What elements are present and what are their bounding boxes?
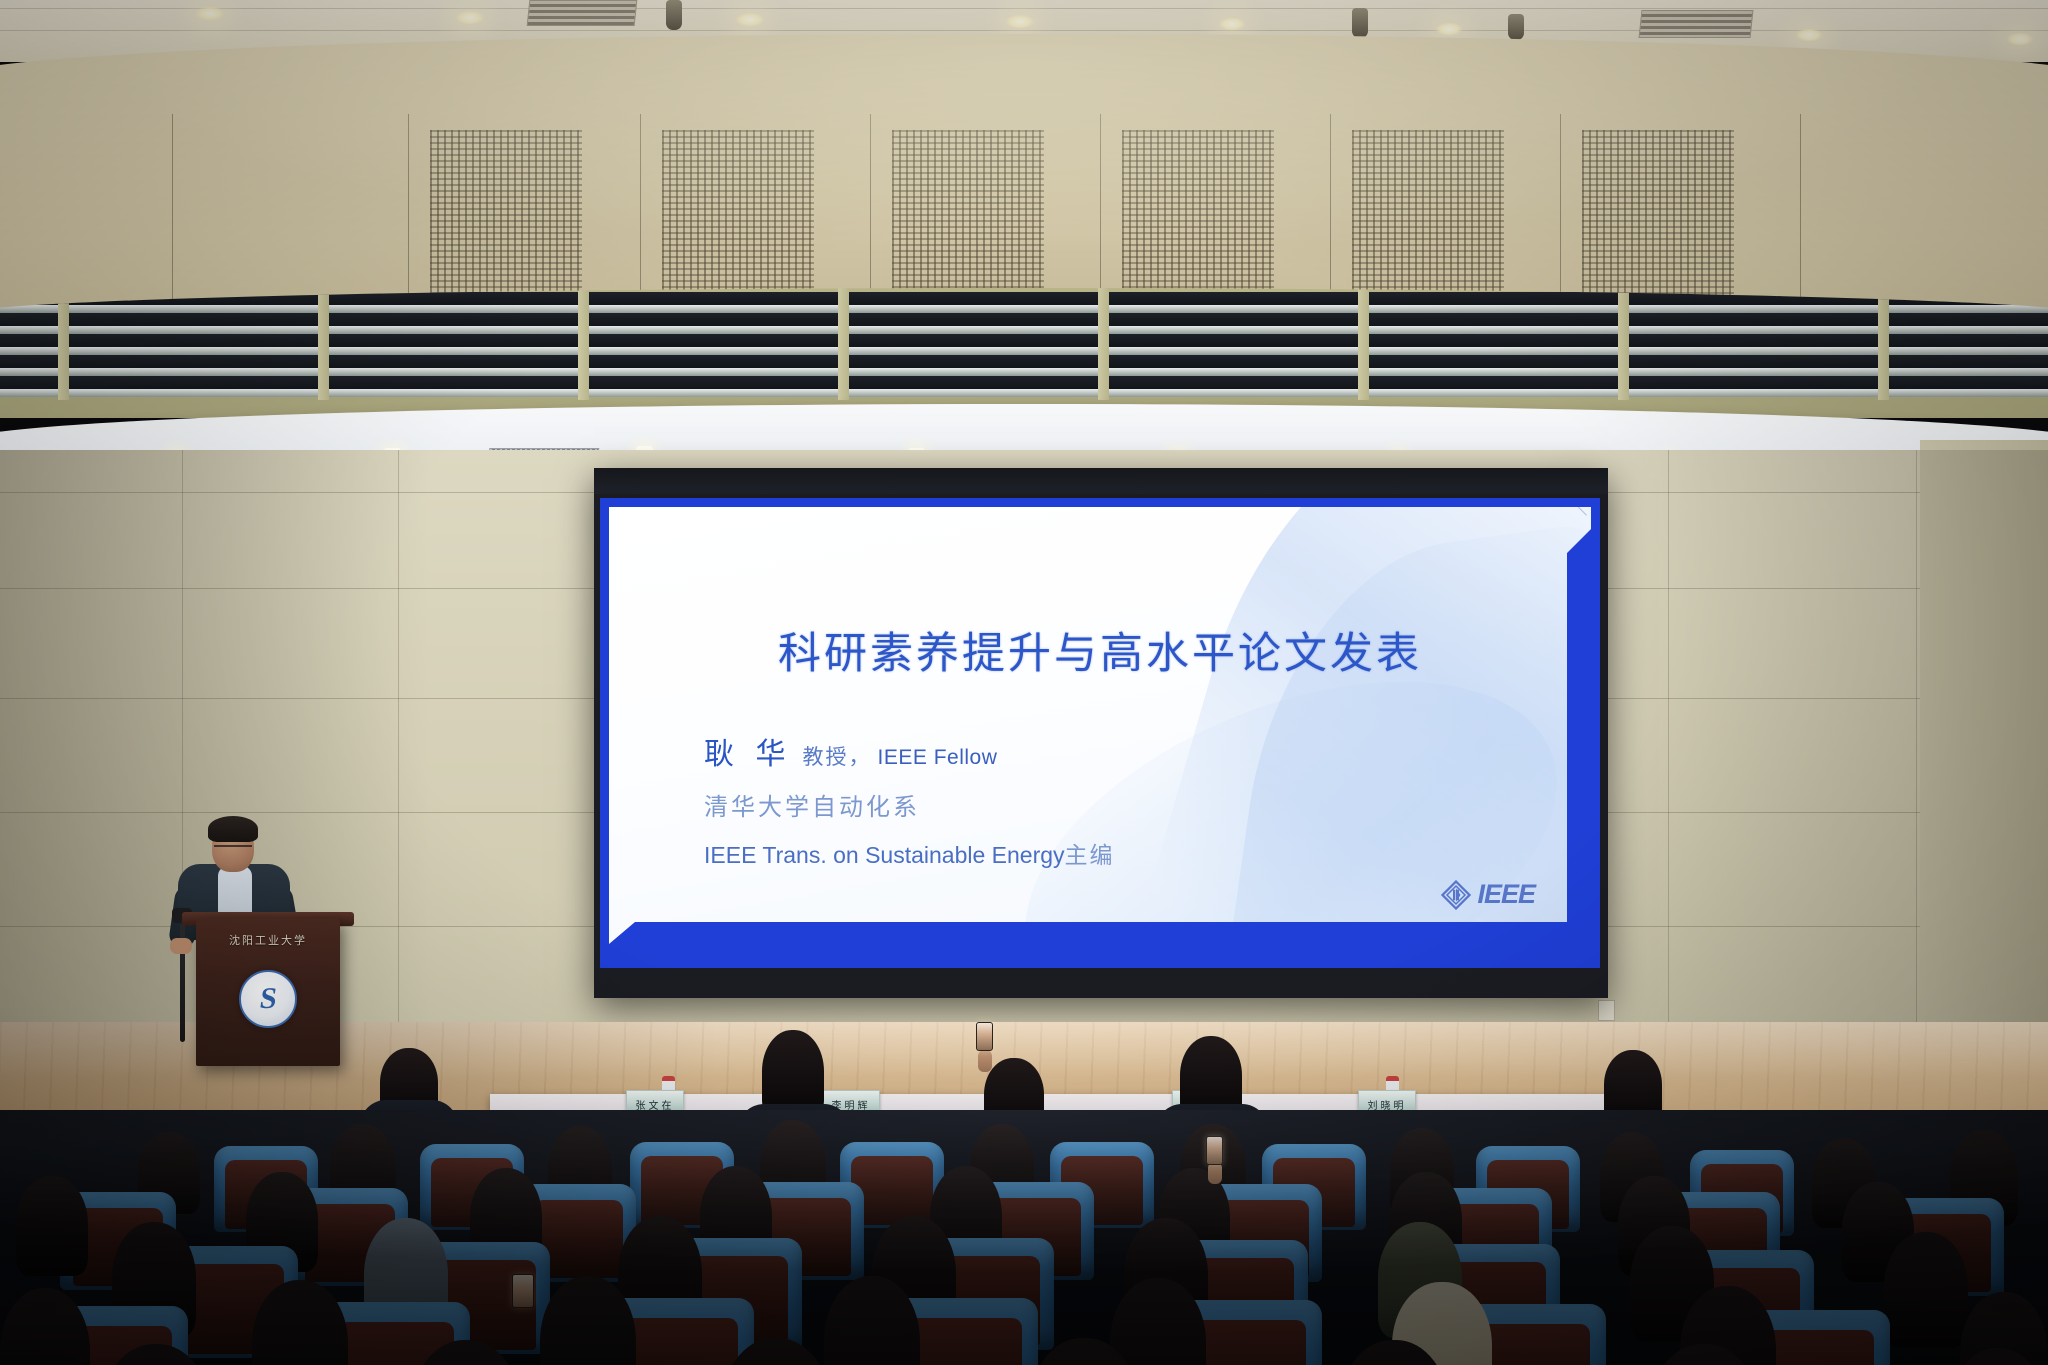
journal-name: IEEE Trans. on Sustainable Energy bbox=[704, 842, 1065, 868]
ieee-wordmark: IEEE bbox=[1477, 879, 1535, 910]
speaker-name: 耿 华 bbox=[704, 738, 793, 771]
speaker-affiliation: 清华大学自动化系 bbox=[704, 795, 920, 821]
slide-title: 科研素养提升与高水平论文发表 bbox=[609, 619, 1591, 681]
audience-member bbox=[16, 1176, 88, 1276]
slide-content-area: 科研素养提升与高水平论文发表 耿 华教授，IEEE Fellow 清华大学自动化… bbox=[609, 507, 1591, 946]
speaker-rank: 教授， bbox=[803, 745, 872, 769]
podium-university-text: 沈阳工业大学 bbox=[196, 932, 340, 948]
hvac-diffuser-icon bbox=[527, 0, 638, 26]
ieee-diamond-icon bbox=[1441, 880, 1471, 910]
recessed-ceiling-light-icon bbox=[195, 6, 225, 21]
speaker-fellow-badge: IEEE Fellow bbox=[878, 746, 998, 769]
journal-role-line: IEEE Trans. on Sustainable Energy主编 bbox=[704, 836, 1115, 870]
recessed-ceiling-light-icon bbox=[735, 12, 765, 27]
audience-member bbox=[1884, 1232, 1968, 1348]
raised-hand bbox=[1208, 1162, 1222, 1184]
presentation-slide[interactable]: 科研素养提升与高水平论文发表 耿 华教授，IEEE Fellow 清华大学自动化… bbox=[600, 498, 1600, 968]
audience-seating bbox=[0, 1110, 2048, 1365]
speaker-hand bbox=[170, 938, 192, 954]
slide-subtitle-block: 耿 华教授，IEEE Fellow 清华大学自动化系 IEEE Trans. o… bbox=[704, 729, 1115, 884]
ceiling-seam bbox=[0, 8, 2048, 9]
university-crest-icon: S bbox=[239, 970, 297, 1028]
smartphone-icon bbox=[1206, 1136, 1223, 1165]
affiliation-line: 清华大学自动化系 bbox=[704, 787, 1115, 822]
louvered-wall-band bbox=[0, 288, 2048, 418]
ieee-logo: IEEE bbox=[1441, 879, 1535, 910]
ceiling-speaker-icon bbox=[666, 0, 682, 30]
screen-top-mask bbox=[594, 468, 1608, 494]
auditorium-scene: 科研素养提升与高水平论文发表 耿 华教授，IEEE Fellow 清华大学自动化… bbox=[0, 0, 2048, 1365]
journal-role-suffix: 主编 bbox=[1065, 843, 1115, 868]
smartphone-icon bbox=[512, 1274, 534, 1308]
speaker-hair bbox=[208, 816, 258, 842]
recessed-ceiling-light-icon bbox=[455, 10, 485, 25]
audience-member bbox=[0, 1288, 90, 1365]
recessed-ceiling-light-icon bbox=[1218, 17, 1246, 31]
recessed-ceiling-light-icon bbox=[1005, 14, 1035, 29]
crest-letter: S bbox=[258, 984, 279, 1014]
podium: 沈阳工业大学 S bbox=[196, 918, 340, 1066]
smartphone-icon bbox=[976, 1022, 993, 1051]
speaker-line: 耿 华教授，IEEE Fellow bbox=[704, 729, 1115, 773]
speaker-glasses-icon bbox=[214, 845, 252, 854]
raised-hand bbox=[978, 1050, 992, 1072]
wall-socket-icon bbox=[1598, 1000, 1615, 1021]
